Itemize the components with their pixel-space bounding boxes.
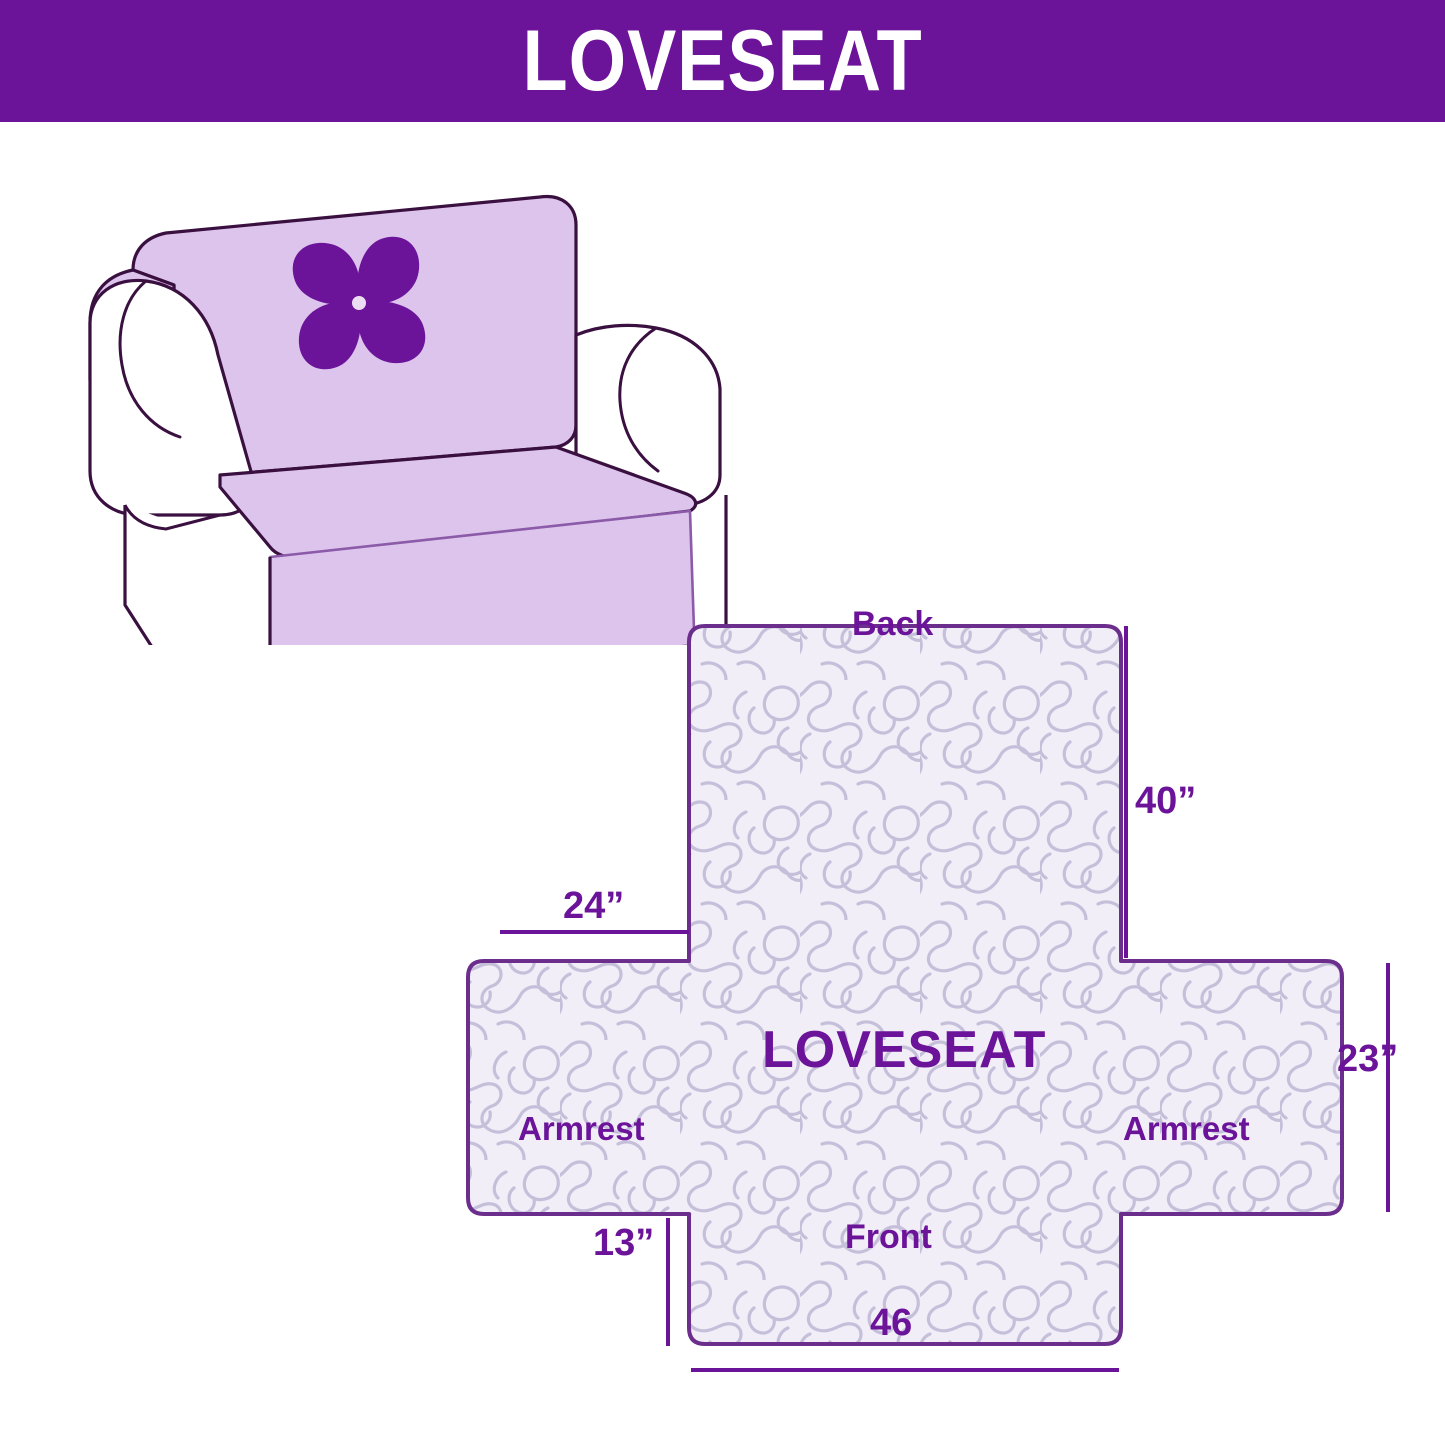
product-dimension-infographic: LOVESEAT	[0, 0, 1445, 1445]
dimension-label-armrest-depth: 23”	[1337, 1038, 1398, 1081]
dimension-label-back-height: 40”	[1135, 780, 1196, 823]
flat-pattern-diagram: Back LOVESEAT Front Armrest Armrest 40” …	[440, 560, 1445, 1445]
dimension-label-armrest-width: 24”	[563, 885, 624, 928]
center-label-loveseat: LOVESEAT	[762, 1020, 1046, 1080]
part-label-back: Back	[852, 605, 933, 644]
dimension-label-seat-width: 46	[870, 1302, 912, 1345]
page-title: LOVESEAT	[522, 18, 922, 104]
header-banner: LOVESEAT	[0, 0, 1445, 122]
part-label-front: Front	[845, 1218, 932, 1257]
part-label-armrest-right: Armrest	[1123, 1110, 1250, 1148]
part-label-armrest-left: Armrest	[518, 1110, 645, 1148]
dimension-label-front-height: 13”	[593, 1222, 654, 1265]
